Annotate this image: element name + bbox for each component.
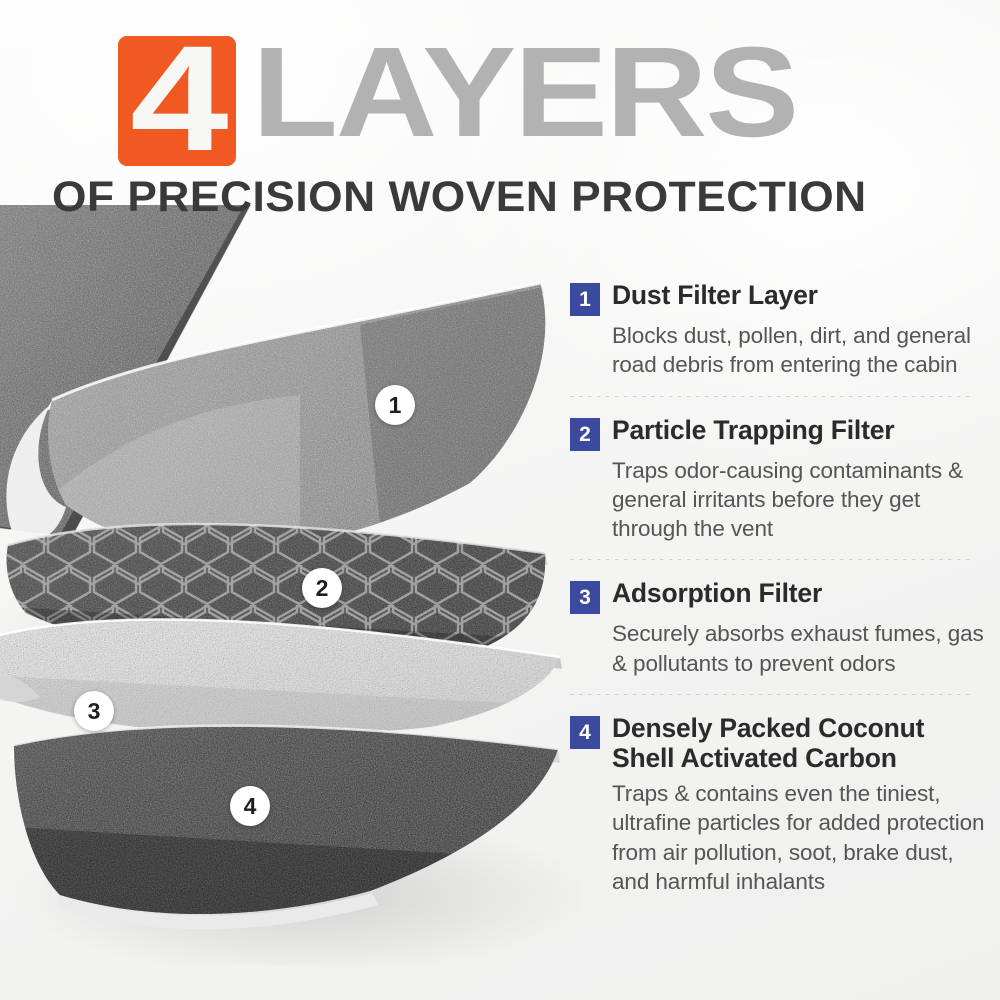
feature-divider-3	[570, 694, 973, 695]
feature-item-3: 3 Adsorption Filter Securely absorbs exh…	[570, 578, 985, 695]
feature-title-1: Dust Filter Layer	[612, 280, 818, 311]
feature-header: 1 Dust Filter Layer	[570, 280, 985, 316]
feature-header: 3 Adsorption Filter	[570, 578, 985, 614]
feature-item-2: 2 Particle Trapping Filter Traps odor-ca…	[570, 415, 985, 561]
headline-row: 4 LAYERS	[118, 36, 747, 166]
feature-header: 2 Particle Trapping Filter	[570, 415, 985, 451]
callout-1: 1	[375, 385, 415, 425]
four-number-badge: 4	[118, 36, 236, 166]
infographic-canvas: 4 LAYERS OF PRECISION WOVEN PROTECTION	[0, 0, 1000, 1000]
feature-item-1: 1 Dust Filter Layer Blocks dust, pollen,…	[570, 280, 985, 397]
feature-item-4: 4 Densely Packed Coconut Shell Activated…	[570, 713, 985, 896]
feature-list: 1 Dust Filter Layer Blocks dust, pollen,…	[570, 280, 985, 896]
callout-4: 4	[230, 786, 270, 826]
feature-body-1: Blocks dust, pollen, dirt, and general r…	[570, 321, 985, 380]
feature-header: 4 Densely Packed Coconut Shell Activated…	[570, 713, 985, 774]
headline-subtitle: OF PRECISION WOVEN PROTECTION	[52, 176, 979, 219]
four-glyph: 4	[118, 36, 236, 163]
callout-2: 2	[302, 568, 342, 608]
feature-title-4: Densely Packed Coconut Shell Activated C…	[612, 713, 985, 774]
feature-number-badge-1: 1	[570, 283, 600, 316]
feature-number-badge-4: 4	[570, 716, 600, 749]
feature-body-2: Traps odor-causing contaminants & genera…	[570, 456, 985, 544]
feature-divider-2	[570, 559, 973, 560]
headline-layers-word: LAYERS	[252, 32, 797, 155]
feature-title-2: Particle Trapping Filter	[612, 415, 894, 446]
feature-title-3: Adsorption Filter	[612, 578, 822, 609]
callout-3: 3	[74, 691, 114, 731]
feature-number-badge-3: 3	[570, 581, 600, 614]
feature-divider-1	[570, 396, 973, 397]
feature-body-3: Securely absorbs exhaust fumes, gas & po…	[570, 619, 985, 678]
filter-layer-illustration	[0, 205, 580, 965]
feature-number-badge-2: 2	[570, 418, 600, 451]
feature-body-4: Traps & contains even the tiniest, ultra…	[570, 779, 985, 896]
